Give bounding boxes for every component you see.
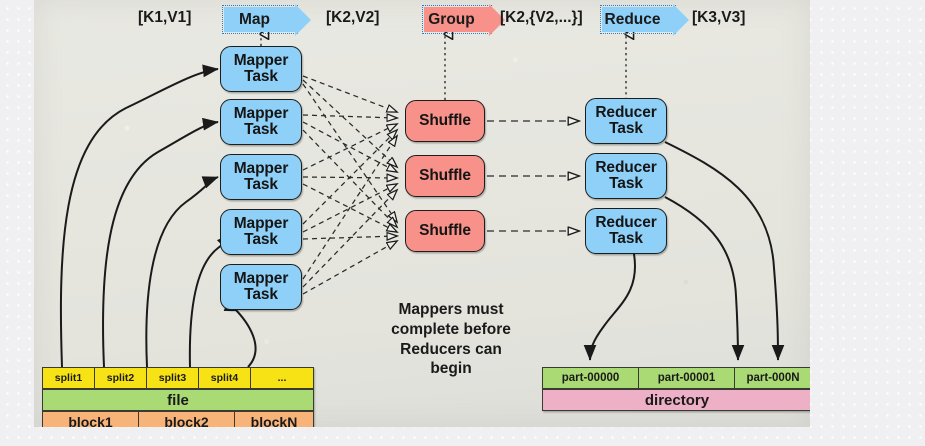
mapper-task-5[interactable]: MapperTask — [220, 264, 302, 310]
diagram-canvas: [K1,V1] Map [K2,V2] Group [K2,{V2,...}] … — [34, 0, 810, 427]
shuffle-to-reducer-edges — [487, 121, 579, 231]
reducer-task-label: ReducerTask — [595, 160, 656, 192]
stage-arrow-map-label: Map — [239, 11, 270, 29]
diagram-stage: [K1,V1] Map [K2,V2] Group [K2,{V2,...}] … — [0, 0, 925, 446]
split-cell-more[interactable]: ... — [251, 368, 313, 388]
ordering-note: Mappers must complete before Reducers ca… — [371, 300, 531, 379]
mapper-to-shuffle-edges — [303, 76, 397, 294]
block-cell-3[interactable]: blockN — [235, 412, 313, 427]
file-label: file — [43, 390, 313, 410]
ordering-note-line-1: Mappers must — [371, 300, 531, 320]
part-cell-3[interactable]: part-000N — [735, 368, 810, 388]
mapper-task-label: MapperTask — [234, 53, 289, 85]
ordering-note-line-2: complete before — [371, 320, 531, 340]
input-splits-bar: split1 split2 split3 split4 ... — [42, 367, 314, 389]
shuffle-node-3[interactable]: Shuffle — [405, 210, 485, 252]
shuffle-label: Shuffle — [419, 223, 471, 239]
mapper-task-label: MapperTask — [234, 271, 289, 303]
stage-arrow-reduce-label: Reduce — [605, 11, 661, 29]
output-directory-bar: directory — [542, 389, 810, 411]
stage-arrow-group-label: Group — [428, 11, 475, 29]
mapper-task-label: MapperTask — [234, 106, 289, 138]
part-cell-2[interactable]: part-00001 — [639, 368, 735, 388]
arrow-tip-icon — [673, 4, 689, 36]
stage-arrow-group[interactable]: Group — [424, 7, 490, 32]
reducer-task-label: ReducerTask — [595, 215, 656, 247]
input-blocks-bar: block1 block2 blockN — [42, 411, 314, 427]
split-cell-4[interactable]: split4 — [199, 368, 251, 388]
stage-label-kv2-set: [K2,{V2,...}] — [500, 9, 583, 27]
split-cell-2[interactable]: split2 — [95, 368, 147, 388]
stage-arrow-reduce[interactable]: Reduce — [602, 7, 674, 32]
reducer-task-3[interactable]: ReducerTask — [585, 208, 667, 254]
mapper-task-label: MapperTask — [234, 161, 289, 193]
directory-label: directory — [543, 390, 810, 410]
reducer-task-1[interactable]: ReducerTask — [585, 98, 667, 144]
ordering-note-line-4: begin — [371, 359, 531, 379]
stage-label-kv2: [K2,V2] — [326, 9, 379, 27]
mapper-task-3[interactable]: MapperTask — [220, 154, 302, 200]
part-cell-1[interactable]: part-00000 — [543, 368, 639, 388]
shuffle-label: Shuffle — [419, 168, 471, 184]
shuffle-label: Shuffle — [419, 113, 471, 129]
block-cell-2[interactable]: block2 — [139, 412, 235, 427]
mapper-task-2[interactable]: MapperTask — [220, 99, 302, 145]
output-parts-bar: part-00000 part-00001 part-000N — [542, 367, 810, 389]
mapper-task-4[interactable]: MapperTask — [220, 209, 302, 255]
reducer-task-2[interactable]: ReducerTask — [585, 153, 667, 199]
stage-arrow-map[interactable]: Map — [224, 7, 296, 32]
shuffle-node-1[interactable]: Shuffle — [405, 100, 485, 142]
stage-label-kv3: [K3,V3] — [692, 9, 745, 27]
split-cell-3[interactable]: split3 — [147, 368, 199, 388]
arrow-tip-icon — [295, 4, 311, 36]
mapper-task-1[interactable]: MapperTask — [220, 46, 302, 92]
split-cell-1[interactable]: split1 — [43, 368, 95, 388]
stage-label-kv1: [K1,V1] — [138, 9, 191, 27]
reducer-task-label: ReducerTask — [595, 105, 656, 137]
block-cell-1[interactable]: block1 — [43, 412, 139, 427]
shuffle-node-2[interactable]: Shuffle — [405, 155, 485, 197]
input-file-bar: file — [42, 389, 314, 411]
mapper-task-label: MapperTask — [234, 216, 289, 248]
ordering-note-line-3: Reducers can — [371, 340, 531, 360]
